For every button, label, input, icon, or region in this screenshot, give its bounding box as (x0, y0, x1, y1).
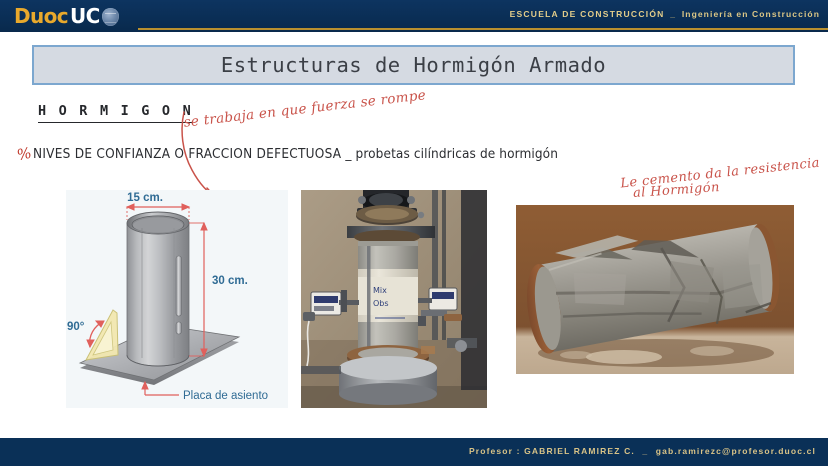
base-plate-callout-arrow (142, 382, 179, 395)
logo-uc-text: UC (70, 4, 100, 28)
footer-credit: Profesor : GABRIEL RAMIREZ C. _ gab.rami… (469, 446, 816, 456)
cylinder-mold-svg: 15 cm. 30 cm. 90° Placa de asiento (66, 190, 288, 408)
page-header: Duoc UC ESCUELA DE CONSTRUCCIÓN _ Ingeni… (0, 0, 828, 32)
header-school-program: ESCUELA DE CONSTRUCCIÓN _ Ingeniería en … (510, 9, 820, 19)
cylinder-shape (127, 212, 189, 366)
specimen-label-text: Mix (373, 286, 387, 295)
footer-role-label: Profesor : (469, 446, 521, 456)
cylinder-mold-diagram: 15 cm. 30 cm. 90° Placa de asiento (66, 190, 288, 408)
section-heading-hormigon: H O R M I G O N (38, 103, 193, 123)
svg-text:Obs: Obs (373, 299, 389, 308)
logo-duoc-text: Duoc (14, 4, 68, 28)
label-base-plate: Placa de asiento (183, 390, 268, 402)
label-height: 30 cm. (212, 275, 248, 287)
percent-handwritten-mark: % (17, 143, 32, 164)
compression-test-svg: Mix Obs (301, 190, 487, 408)
header-program-label: Ingeniería en Construcción (682, 9, 820, 19)
header-separator: _ (668, 9, 678, 19)
handwriting-right-line2: al Hormigón (633, 180, 721, 201)
page-footer: Profesor : GABRIEL RAMIREZ C. _ gab.rami… (0, 438, 828, 466)
header-school-label: ESCUELA DE CONSTRUCCIÓN (510, 9, 665, 19)
main-text-separator: _ (341, 146, 355, 162)
handwriting-top-note: se trabaja en que fuerza se rompe (183, 87, 427, 130)
compression-test-photo: Mix Obs (301, 190, 487, 408)
failed-cylinder-photo (516, 205, 794, 374)
failed-cylinder-svg (516, 205, 794, 374)
slide-title-banner: Estructuras de Hormigón Armado (32, 45, 795, 85)
main-text-line: NIVES DE CONFIANZA O FRACCION DEFECTUOSA… (33, 146, 558, 162)
main-text-caps: NIVES DE CONFIANZA O FRACCION DEFECTUOSA (33, 146, 341, 162)
page-title: Estructuras de Hormigón Armado (221, 53, 606, 77)
footer-email[interactable]: gab.ramirezc@profesor.duoc.cl (656, 446, 816, 456)
handwriting-right-line1: Le cemento da la resistencia (620, 156, 821, 192)
duoc-uc-seal-icon (102, 8, 119, 26)
main-text-rest: probetas cilíndricas de hormigón (356, 146, 558, 162)
header-gold-divider (138, 28, 828, 30)
footer-separator: _ (638, 446, 652, 456)
footer-professor-name: GABRIEL RAMIREZ C. (524, 446, 635, 456)
label-angle: 90° (67, 321, 85, 333)
duoc-uc-logo[interactable]: Duoc UC (14, 4, 119, 28)
label-diameter: 15 cm. (127, 192, 163, 204)
